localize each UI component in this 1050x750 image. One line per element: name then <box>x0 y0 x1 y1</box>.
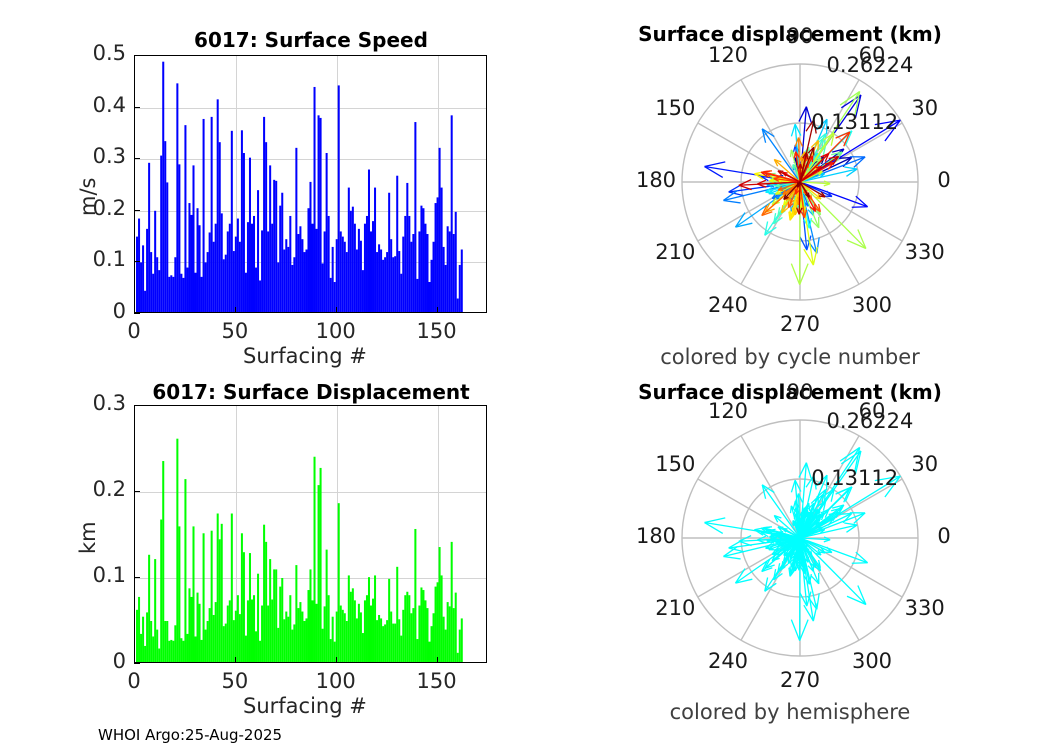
bar-series <box>135 56 487 313</box>
y-tick-label: 0.5 <box>58 41 126 65</box>
polar-angle-label: 90 <box>770 24 830 48</box>
y-tick-mark <box>134 313 140 314</box>
x-tick-label: 50 <box>195 319 275 343</box>
y-tick-mark <box>134 158 140 159</box>
y-tick-label: 0.1 <box>58 563 126 587</box>
polar-angle-label: 120 <box>698 399 758 423</box>
polar-angle-label: 90 <box>770 380 830 404</box>
y-tick-mark <box>134 210 140 211</box>
x-tick-mark <box>336 657 337 663</box>
polar-angle-label: 210 <box>645 240 705 264</box>
x-tick-mark <box>134 657 135 663</box>
polar-caption-hemisphere: colored by hemisphere <box>585 700 995 724</box>
polar-radius-label: 0.26224 <box>827 409 914 433</box>
polar-angle-label: 120 <box>698 43 758 67</box>
y-tick-label: 0.1 <box>58 247 126 271</box>
panel-polar-hemisphere: Surface displacement (km) colored by hem… <box>525 350 1050 750</box>
bar-series <box>135 406 487 663</box>
polar-angle-label: 180 <box>626 168 686 192</box>
x-tick-mark <box>134 307 135 313</box>
y-tick-mark <box>134 405 140 406</box>
y-tick-mark <box>134 577 140 578</box>
polar-angle-label: 300 <box>842 649 902 673</box>
chart-title-surface-displacement: 6017: Surface Displacement <box>126 380 496 404</box>
polar-radius-label: 0.26224 <box>827 53 914 77</box>
polar-angle-label: 0 <box>914 168 974 192</box>
polar-plot-cycle-number <box>680 62 920 302</box>
polar-radius-label: 0.13112 <box>811 466 898 490</box>
polar-angle-label: 330 <box>895 240 955 264</box>
y-tick-label: 0.2 <box>58 196 126 220</box>
panel-polar-cycle-number: Surface displacement (km) colored by cyc… <box>525 0 1050 375</box>
polar-radius-label: 0.13112 <box>811 110 898 134</box>
polar-angle-label: 30 <box>895 452 955 476</box>
x-axis-label-displacement: Surfacing # <box>243 694 367 718</box>
x-tick-mark <box>336 307 337 313</box>
polar-angle-label: 270 <box>770 668 830 692</box>
plot-area-surface-displacement <box>134 405 487 663</box>
x-tick-label: 100 <box>296 319 376 343</box>
y-tick-mark <box>134 107 140 108</box>
polar-angle-label: 150 <box>645 96 705 120</box>
x-tick-mark <box>235 657 236 663</box>
y-tick-label: 0.4 <box>58 93 126 117</box>
x-tick-label: 0 <box>94 319 174 343</box>
x-tick-label: 0 <box>94 669 174 693</box>
polar-angle-label: 0 <box>914 524 974 548</box>
y-tick-label: 0.2 <box>58 477 126 501</box>
polar-plot-hemisphere <box>680 418 920 658</box>
polar-angle-label: 330 <box>895 596 955 620</box>
x-tick-mark <box>437 657 438 663</box>
x-tick-label: 50 <box>195 669 275 693</box>
polar-angle-label: 270 <box>770 312 830 336</box>
y-tick-mark <box>134 55 140 56</box>
polar-angle-label: 240 <box>698 293 758 317</box>
panel-surface-displacement: 6017: Surface Displacement km Surfacing … <box>0 350 525 750</box>
y-tick-mark <box>134 491 140 492</box>
y-tick-mark <box>134 663 140 664</box>
polar-angle-label: 180 <box>626 524 686 548</box>
polar-angle-label: 240 <box>698 649 758 673</box>
polar-angle-label: 300 <box>842 293 902 317</box>
x-tick-label: 150 <box>397 319 477 343</box>
footer-credit: WHOI Argo:25-Aug-2025 <box>98 726 282 744</box>
x-tick-label: 150 <box>397 669 477 693</box>
panel-surface-speed: 6017: Surface Speed m/s Surfacing # 00.1… <box>0 0 525 375</box>
x-tick-mark <box>235 307 236 313</box>
chart-title-surface-speed: 6017: Surface Speed <box>134 28 488 52</box>
y-tick-label: 0.3 <box>58 391 126 415</box>
polar-angle-label: 150 <box>645 452 705 476</box>
polar-canvas <box>680 62 920 302</box>
polar-canvas <box>680 418 920 658</box>
polar-angle-label: 30 <box>895 96 955 120</box>
x-tick-mark <box>437 307 438 313</box>
polar-angle-label: 210 <box>645 596 705 620</box>
y-tick-label: 0.3 <box>58 144 126 168</box>
y-axis-label-displacement: km <box>76 521 100 554</box>
plot-area-surface-speed <box>134 55 487 313</box>
x-tick-label: 100 <box>296 669 376 693</box>
y-tick-mark <box>134 261 140 262</box>
